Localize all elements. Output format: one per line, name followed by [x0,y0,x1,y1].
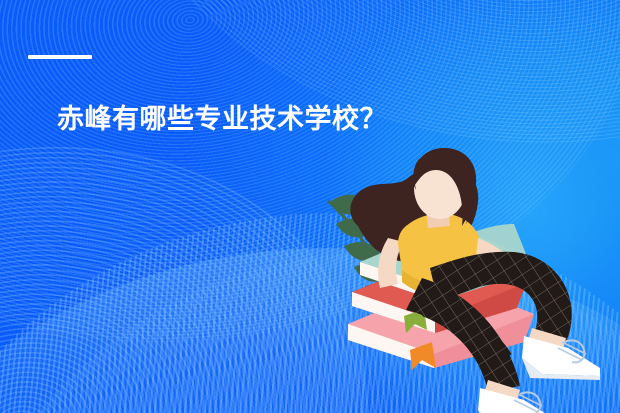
hero-illustration [318,128,620,413]
student-on-books-illustration [318,128,620,413]
headline-accent-rule [28,55,92,59]
article-cover-banner: 赤峰有哪些专业技术学校？ [0,0,620,413]
